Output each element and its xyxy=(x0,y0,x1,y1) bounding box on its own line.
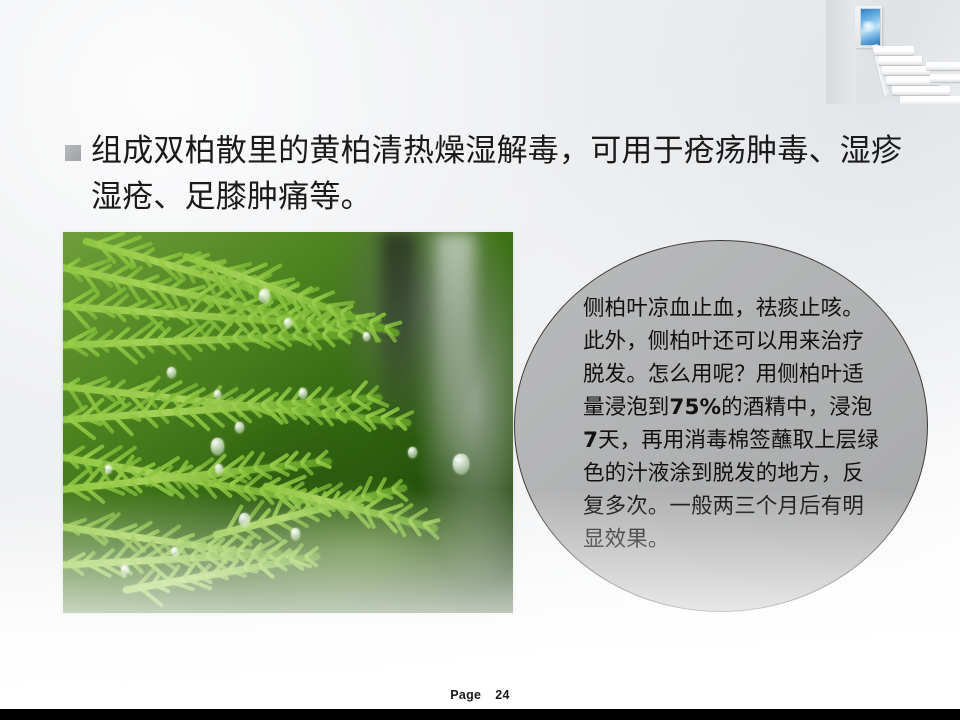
callout-emphasis-percent: 75% xyxy=(669,395,721,420)
water-droplet xyxy=(363,332,370,341)
staircase-step xyxy=(878,56,922,65)
callout-text-part2: 的酒精中，浸泡 xyxy=(721,395,872,420)
callout-emphasis-days: 7 xyxy=(583,428,598,453)
staircase-step xyxy=(882,66,930,75)
cypress-foliage-photo xyxy=(63,232,513,613)
square-bullet-icon xyxy=(65,145,81,161)
photo-light-trunk-blur xyxy=(435,232,475,462)
water-droplet xyxy=(171,547,178,556)
staircase-wall-left xyxy=(826,0,856,104)
water-droplet xyxy=(105,465,112,474)
water-droplet xyxy=(121,565,129,575)
bullet-paragraph: 组成双柏散里的黄柏清热燥湿解毒，可用于疮疡肿毒、湿疹湿疮、足膝肿痛等。 xyxy=(62,128,922,220)
heading-text: 组成双柏散里的黄柏清热燥湿解毒，可用于疮疡肿毒、湿疹湿疮、足膝肿痛等。 xyxy=(62,128,922,220)
staircase-step xyxy=(892,86,950,95)
staircase-decor-image xyxy=(826,0,960,104)
staircase-step xyxy=(930,74,960,82)
water-droplet xyxy=(235,422,244,433)
page-label: Page xyxy=(450,688,481,702)
water-droplet xyxy=(284,318,292,328)
blue-light-doorway-icon xyxy=(860,8,881,46)
water-droplet xyxy=(259,289,270,303)
circle-callout-text: 侧柏叶凉血止血，祛痰止咳。此外，侧柏叶还可以用来治疗脱发。怎么用呢？用侧柏叶适量… xyxy=(583,292,883,556)
water-droplet xyxy=(299,388,307,399)
water-droplet xyxy=(214,390,221,399)
staircase-step xyxy=(900,96,960,104)
water-droplet xyxy=(167,367,176,378)
slide-canvas: 组成双柏散里的黄柏清热燥湿解毒，可用于疮疡肿毒、湿疹湿疮、足膝肿痛等。 侧柏叶凉… xyxy=(0,0,960,720)
water-droplet xyxy=(239,513,250,527)
staircase-step xyxy=(926,62,960,70)
water-droplet xyxy=(408,447,417,458)
water-droplet xyxy=(291,528,300,540)
bottom-black-bar xyxy=(0,709,960,720)
water-droplet xyxy=(453,454,469,474)
slide-footer: Page24 xyxy=(0,688,960,702)
callout-text-part3: 天，再用消毒棉签蘸取上层绿色的汁液涂到脱发的地方，反复多次。一般两三个月后有明显… xyxy=(583,428,879,552)
staircase-step xyxy=(874,46,914,55)
water-droplet xyxy=(211,438,224,455)
water-droplet xyxy=(215,464,223,474)
page-number: 24 xyxy=(495,688,510,702)
